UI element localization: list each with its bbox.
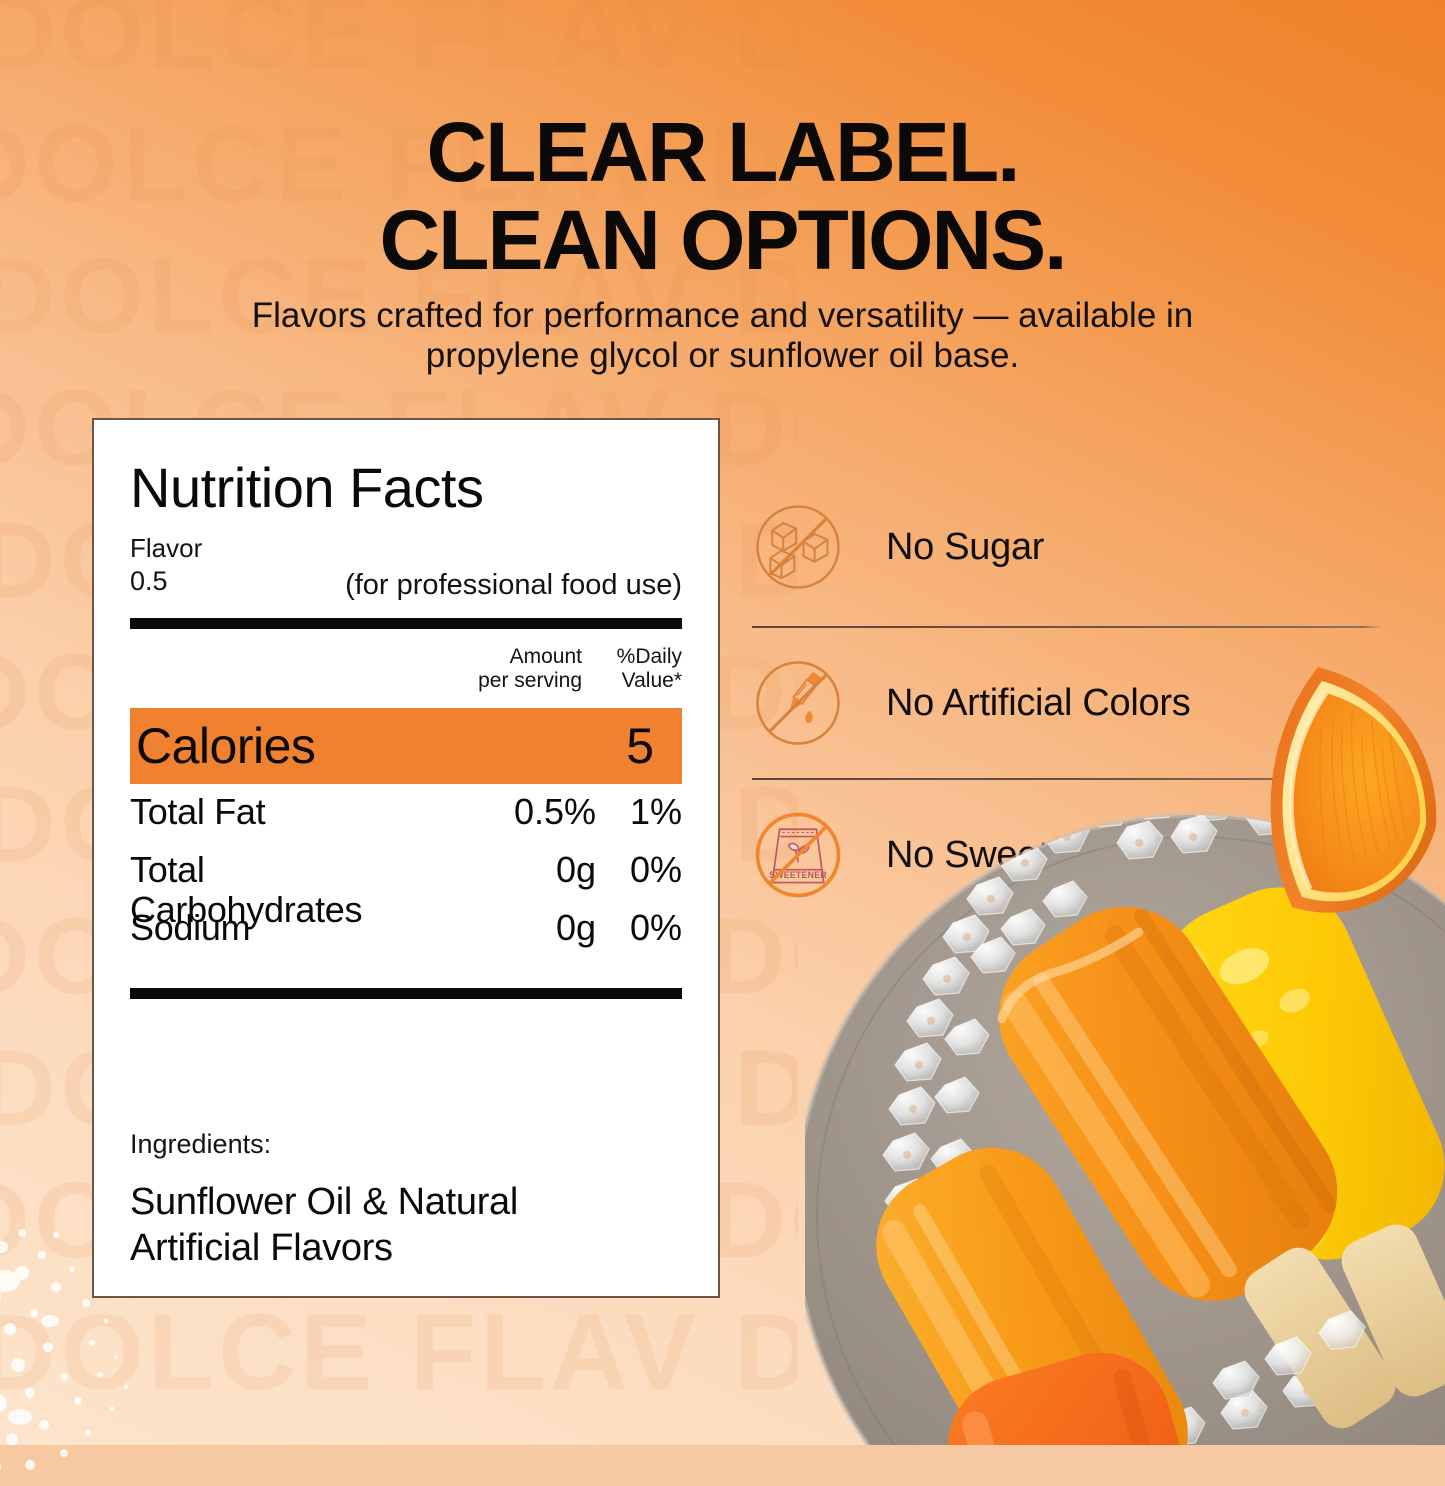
- calories-label: Calories: [136, 719, 524, 773]
- nutrient-name: Total Fat: [130, 792, 446, 832]
- ingredients-line-2: Artificial Flavors: [130, 1225, 682, 1271]
- ingredients-section: Ingredients: Sunflower Oil & Natural Art…: [130, 1127, 682, 1271]
- column-header-amount-line1: Amount: [432, 645, 582, 669]
- nutrition-facts-title: Nutrition Facts: [130, 458, 682, 518]
- nutrition-column-headers: Amount per serving %Daily Value*: [130, 645, 682, 699]
- product-photo: [805, 655, 1445, 1445]
- flavor-label: Flavor: [130, 532, 682, 564]
- nutrition-serving-info: Flavor 0.5 (for professional food use): [130, 532, 682, 604]
- table-row: Total Fat 0.5% 1%: [130, 784, 682, 842]
- headline-line-2: CLEAN OPTIONS.: [0, 196, 1445, 284]
- nutrient-name: Sodium: [130, 908, 446, 948]
- calories-row: Calories 5: [130, 708, 682, 784]
- nutrient-daily-value: 0%: [596, 850, 682, 890]
- nutrition-rule-bottom: [130, 988, 682, 999]
- column-header-dv-line1: %Daily: [596, 645, 682, 669]
- nutrient-amount: 0.5%: [446, 792, 596, 832]
- orange-wedge-icon: [1226, 657, 1442, 935]
- ingredients-line-1: Sunflower Oil & Natural: [130, 1179, 682, 1225]
- table-row: Total Carbohydrates 0g 0%: [130, 842, 682, 900]
- nutrient-daily-value: 1%: [596, 792, 682, 832]
- subheadline-line-1: Flavors crafted for performance and vers…: [0, 296, 1445, 336]
- nutrient-amount: 0g: [446, 850, 596, 890]
- ingredients-value: Sunflower Oil & Natural Artificial Flavo…: [130, 1179, 682, 1271]
- headline: CLEAR LABEL. CLEAN OPTIONS.: [0, 108, 1445, 284]
- column-header-amount: Amount per serving: [432, 645, 582, 693]
- column-header-amount-line2: per serving: [432, 669, 582, 693]
- nutrition-facts-panel: Nutrition Facts Flavor 0.5 (for professi…: [92, 418, 720, 1298]
- watermark-row: DOLCE FLAV DOLCE FLAV DOLCE FLAV: [0, 1286, 798, 1418]
- subheadline: Flavors crafted for performance and vers…: [0, 296, 1445, 376]
- nutrient-daily-value: 0%: [596, 908, 682, 948]
- column-header-dv-line2: Value*: [596, 669, 682, 693]
- column-header-daily-value: %Daily Value*: [596, 645, 682, 693]
- no-sugar-cubes-icon: [752, 501, 844, 593]
- nutrient-amount: 0g: [446, 908, 596, 948]
- feature-label: No Sugar: [886, 525, 1044, 569]
- ingredients-label: Ingredients:: [130, 1127, 682, 1161]
- calories-value: 5: [524, 719, 674, 773]
- watermark-row: DOLCE FLAV DOLCE FLAV DOLCE FLAV: [0, 0, 798, 98]
- professional-use-note: (for professional food use): [345, 568, 682, 602]
- subheadline-line-2: propylene glycol or sunflower oil base.: [0, 336, 1445, 376]
- feature-row-no-sugar: No Sugar: [752, 468, 1382, 626]
- headline-line-1: CLEAR LABEL.: [0, 108, 1445, 196]
- table-row: Sodium 0g 0%: [130, 900, 682, 958]
- nutrition-rule-thick: [130, 618, 682, 629]
